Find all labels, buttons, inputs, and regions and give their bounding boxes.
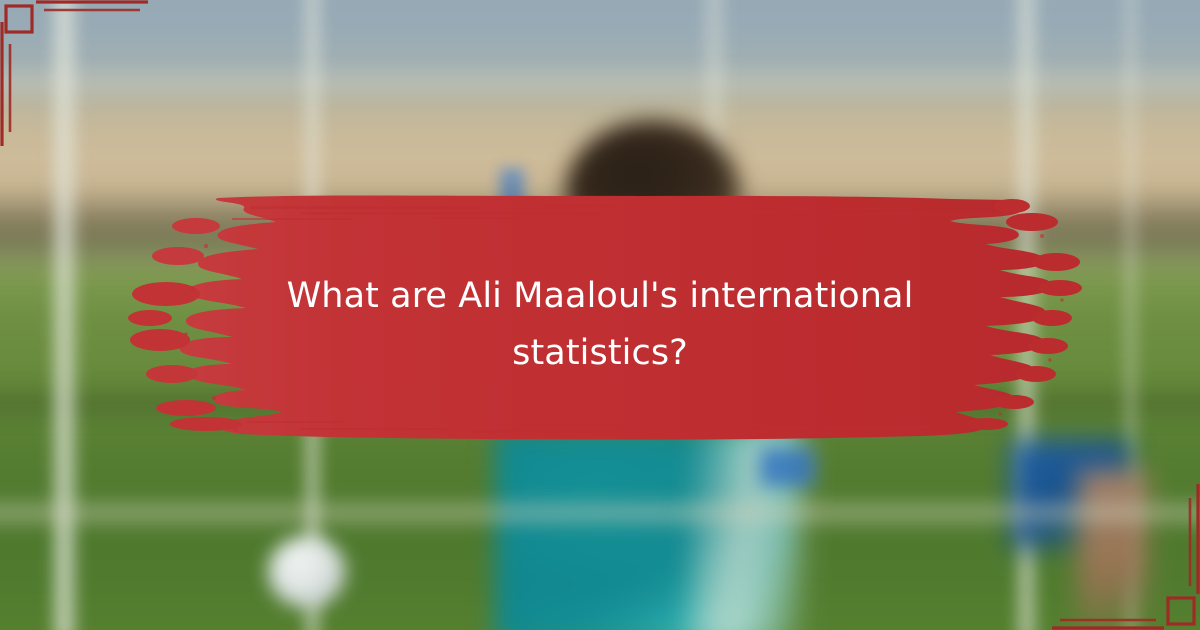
page-title: What are Ali Maaloul's international sta…: [250, 268, 950, 381]
page-title-line-1: What are Ali Maaloul's international: [250, 268, 950, 325]
corner-bracket-ornament-bottom-right: [1040, 470, 1200, 630]
corner-bracket-ornament-top-left: [0, 0, 160, 160]
page-title-line-2: statistics?: [250, 325, 950, 382]
social-share-card: What are Ali Maaloul's international sta…: [0, 0, 1200, 630]
